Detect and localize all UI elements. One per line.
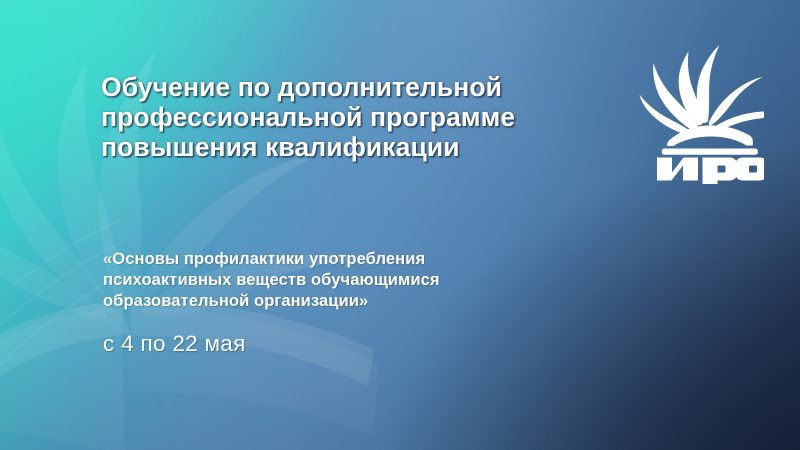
date-range: с 4 по 22 мая [103, 330, 246, 357]
page-title: Обучение по дополнительной профессиональ… [101, 72, 571, 162]
banner-slide: Обучение по дополнительной профессиональ… [0, 0, 800, 450]
course-name: «Основы профилактики употребления психоа… [103, 248, 533, 311]
iro-logo [638, 44, 764, 184]
